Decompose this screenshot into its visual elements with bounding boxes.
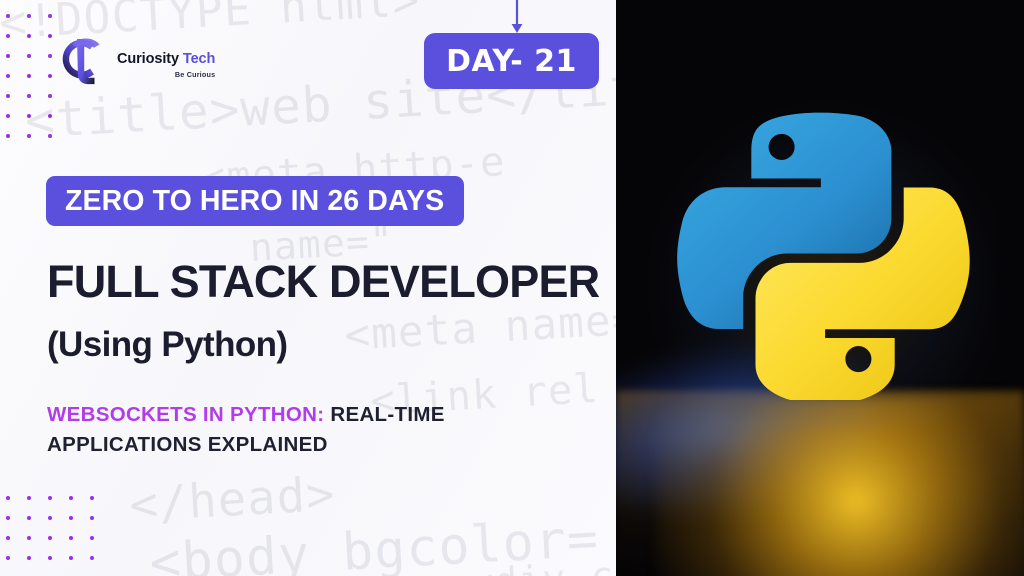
- decorative-dot: [48, 94, 52, 98]
- decorative-dot: [27, 536, 31, 540]
- decorative-dot: [48, 496, 52, 500]
- decorative-dot: [48, 556, 52, 560]
- decorative-dot: [90, 516, 94, 520]
- decorative-dot: [6, 94, 10, 98]
- decorative-dot: [90, 536, 94, 540]
- decorative-dot: [90, 496, 94, 500]
- brand-wordmark: Curiosity Tech Be Curious: [117, 39, 215, 79]
- decorative-dot: [48, 114, 52, 118]
- amber-glow: [656, 396, 1024, 576]
- decorative-dot: [6, 536, 10, 540]
- decorative-dot: [48, 516, 52, 520]
- decorative-dot: [69, 496, 73, 500]
- decorative-dot: [27, 14, 31, 18]
- watermark-line: </head>: [128, 466, 337, 532]
- decorative-dot: [6, 556, 10, 560]
- left-content-panel: <!DOCTYPE html> <title>web site</title> …: [0, 0, 616, 576]
- brand-tagline: Be Curious: [117, 70, 215, 79]
- watermark-line: <div class=: [469, 547, 616, 576]
- course-title: FULL STACK DEVELOPER: [47, 258, 599, 305]
- decorative-dot: [48, 54, 52, 58]
- decorative-dot: [48, 536, 52, 540]
- decorative-dot: [6, 34, 10, 38]
- zero-to-hero-label: ZERO TO HERO IN 26 DAYS: [65, 185, 444, 218]
- decorative-dot: [6, 114, 10, 118]
- decorative-dot: [27, 556, 31, 560]
- python-logo-icon: [670, 100, 970, 400]
- decorative-dot: [27, 34, 31, 38]
- decorative-dot: [48, 134, 52, 138]
- lesson-topic: WEBSOCKETS IN PYTHON: REAL-TIME APPLICAT…: [47, 400, 592, 459]
- brand-name-part1: Curiosity: [117, 51, 179, 67]
- decorative-dot: [69, 516, 73, 520]
- decorative-dot: [6, 496, 10, 500]
- brand-logo: Curiosity Tech Be Curious: [56, 31, 215, 87]
- course-promo-poster: <!DOCTYPE html> <title>web site</title> …: [0, 0, 1024, 576]
- arrow-down-icon: [510, 0, 524, 34]
- day-badge: DAY- 21: [424, 33, 599, 89]
- brand-name: Curiosity Tech: [117, 52, 215, 67]
- decorative-dot: [6, 516, 10, 520]
- decorative-dot: [27, 516, 31, 520]
- zero-to-hero-pill: ZERO TO HERO IN 26 DAYS: [46, 176, 464, 226]
- decorative-dot: [48, 14, 52, 18]
- lesson-topic-highlight: WEBSOCKETS IN PYTHON:: [47, 403, 324, 426]
- decorative-dot: [48, 34, 52, 38]
- decorative-dot: [6, 134, 10, 138]
- decorative-dot: [6, 74, 10, 78]
- day-badge-label: DAY- 21: [446, 44, 577, 79]
- brand-name-part2: Tech: [183, 51, 215, 67]
- decorative-dot: [27, 54, 31, 58]
- decorative-dot: [6, 14, 10, 18]
- decorative-dot: [48, 74, 52, 78]
- decorative-dot: [27, 74, 31, 78]
- decorative-dot: [27, 94, 31, 98]
- curiosity-tech-c-monogram-icon: [56, 31, 110, 87]
- decorative-dot: [69, 536, 73, 540]
- decorative-dot: [27, 496, 31, 500]
- decorative-dot: [27, 114, 31, 118]
- decorative-dot: [6, 54, 10, 58]
- decorative-dot: [90, 556, 94, 560]
- watermark-line: <body bgcolor=: [148, 507, 601, 576]
- hero-image-panel: [616, 0, 1024, 576]
- course-subtitle: (Using Python): [47, 326, 287, 365]
- decorative-dot: [69, 556, 73, 560]
- decorative-dot: [27, 134, 31, 138]
